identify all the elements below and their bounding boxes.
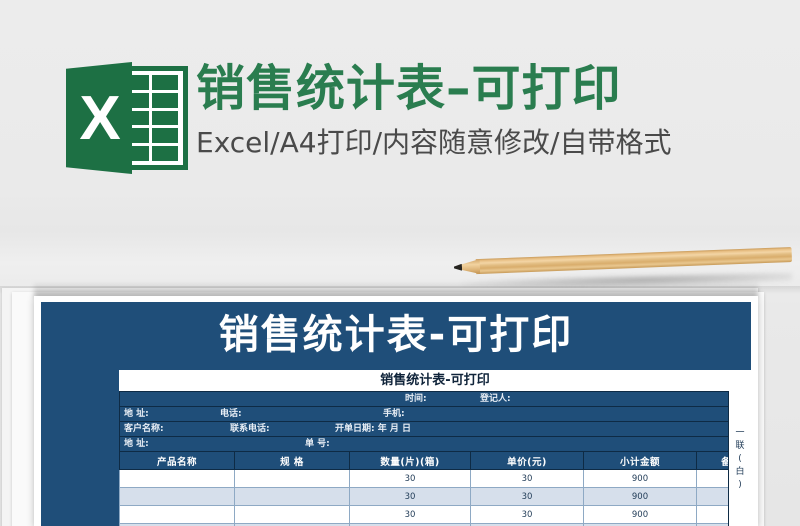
page-subtitle: Excel/A4打印/内容随意修改/自带格式 xyxy=(196,124,796,162)
product-banner: X 销售统计表–可打印 Excel/A4打印/内容随意修改/自带格式 xyxy=(0,0,800,196)
form-field-address2-label: 地 址: xyxy=(124,438,149,450)
form-field-order-date-label: 开单日期: 年 月 日 xyxy=(335,423,411,435)
cell-product-name[interactable] xyxy=(120,470,235,488)
cell-quantity[interactable]: 30 xyxy=(350,488,471,506)
sheet-title: 销售统计表-可打印 xyxy=(119,370,751,391)
pencil-body xyxy=(476,247,792,274)
cell-subtotal[interactable]: 900 xyxy=(584,506,697,524)
copy-label-char: 白 xyxy=(735,467,744,478)
form-field-address-label: 地 址: xyxy=(124,408,149,420)
cell-product-name[interactable] xyxy=(120,488,235,506)
excel-logo-letter: X xyxy=(66,62,132,174)
col-product-name[interactable]: 产品名称 xyxy=(120,452,235,470)
col-quantity[interactable]: 数量(片)(箱) xyxy=(350,452,471,470)
cell-subtotal[interactable]: 900 xyxy=(584,488,697,506)
form-field-order-no-label: 单 号: xyxy=(305,438,330,450)
cell-spec[interactable] xyxy=(235,506,350,524)
form-field-phone-label: 电话: xyxy=(220,408,242,420)
document-blue-page: 销售统计表-可打印 销售统计表-可打印 时间: 登记人: 地 址: 电话: 手机… xyxy=(41,302,751,526)
col-spec[interactable]: 规 格 xyxy=(235,452,350,470)
excel-logo-icon: X xyxy=(66,62,188,174)
table-row[interactable]: 30 30 900 xyxy=(120,470,752,488)
form-row: 客户名称: 联系电话: 开单日期: 年 月 日 xyxy=(119,421,751,436)
form-field-mobile-label: 手机: xyxy=(383,408,405,420)
table-row[interactable]: 30 30 900 xyxy=(120,488,752,506)
cell-quantity[interactable]: 30 xyxy=(350,506,471,524)
form-row: 地 址: 电话: 手机: xyxy=(119,406,751,421)
page-title: 销售统计表–可打印 xyxy=(196,60,796,118)
copy-label-char: 联 xyxy=(735,441,744,452)
copy-label-strip: 一 联 ( 白 ) xyxy=(728,391,751,526)
cell-spec[interactable] xyxy=(235,488,350,506)
table-row[interactable]: 30 30 900 xyxy=(120,506,752,524)
form-row: 地 址: 单 号: xyxy=(119,436,751,451)
banner-text-block: 销售统计表–可打印 Excel/A4打印/内容随意修改/自带格式 xyxy=(196,60,796,162)
screenshot-stage: X 销售统计表–可打印 Excel/A4打印/内容随意修改/自带格式 销售统计表… xyxy=(0,0,800,526)
form-row: 时间: 登记人: xyxy=(119,391,751,406)
sheet-body: 时间: 登记人: 地 址: 电话: 手机: 客户名称: 联系电话: 开单日期: … xyxy=(119,391,751,526)
col-subtotal[interactable]: 小计金额 xyxy=(584,452,697,470)
form-field-registrar-label: 登记人: xyxy=(480,393,511,405)
form-field-customer-name-label: 客户名称: xyxy=(124,423,164,435)
table-header-row: 产品名称 规 格 数量(片)(箱) 单价(元) 小计金额 备 注 xyxy=(120,452,752,470)
document-preview[interactable]: 销售统计表-可打印 销售统计表-可打印 时间: 登记人: 地 址: 电话: 手机… xyxy=(34,296,758,526)
cell-quantity[interactable]: 30 xyxy=(350,470,471,488)
cell-product-name[interactable] xyxy=(120,506,235,524)
copy-label-char: ( xyxy=(738,454,742,465)
cell-unit-price[interactable]: 30 xyxy=(471,488,584,506)
document-banner-title: 销售统计表-可打印 xyxy=(41,310,751,360)
copy-label-char: 一 xyxy=(735,428,744,439)
cell-subtotal[interactable]: 900 xyxy=(584,470,697,488)
pencil-tip-lead xyxy=(454,264,462,271)
spreadsheet-preview[interactable]: 销售统计表-可打印 时间: 登记人: 地 址: 电话: 手机: 客户名称: xyxy=(119,370,751,526)
cell-spec[interactable] xyxy=(235,470,350,488)
copy-label-char: ) xyxy=(738,480,742,491)
sales-table[interactable]: 产品名称 规 格 数量(片)(箱) 单价(元) 小计金额 备 注 xyxy=(119,451,751,526)
form-field-contact-phone-label: 联系电话: xyxy=(230,423,270,435)
form-field-time-label: 时间: xyxy=(405,393,427,405)
col-unit-price[interactable]: 单价(元) xyxy=(471,452,584,470)
cell-unit-price[interactable]: 30 xyxy=(471,470,584,488)
cell-unit-price[interactable]: 30 xyxy=(471,506,584,524)
